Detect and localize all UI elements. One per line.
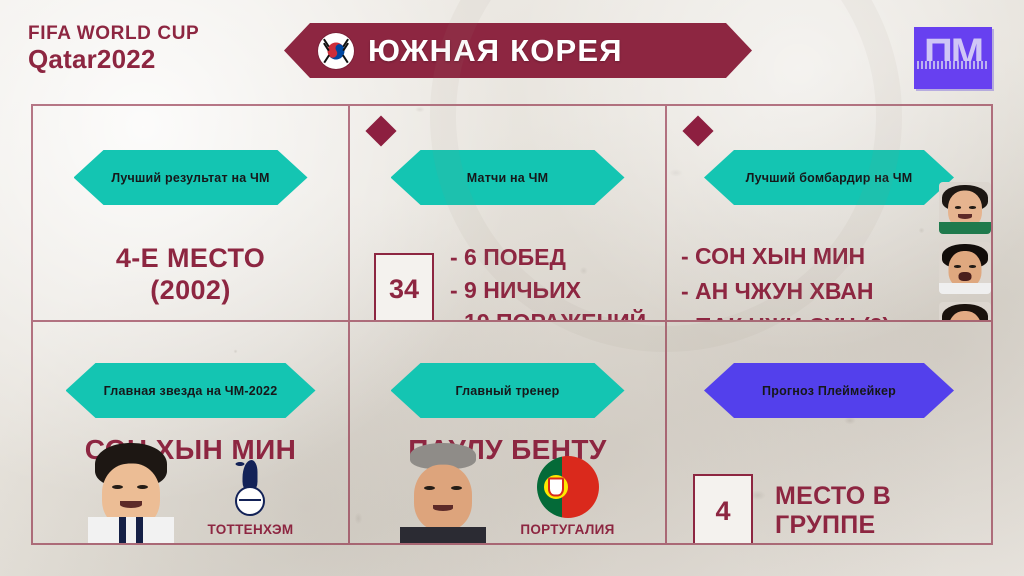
club-badge-col: ТОТТЕНХЭМ [208,460,294,543]
club-name: ТОТТЕНХЭМ [208,522,294,537]
fifa-logo-line2: Qatar2022 [28,46,258,72]
tottenham-crest-icon [225,460,275,518]
fifa-world-cup-logo: FIFA WORLD CUP Qatar2022 [28,24,258,72]
matches-breakdown-item: - 6 ПОБЕД [450,241,646,274]
matches-breakdown-item: - 19 ПОРАЖЕНИЙ [450,306,646,322]
matches-total-box: 34 [374,253,434,322]
hex-wrap: Главный тренер [350,322,665,418]
country-name: ПОРТУГАЛИЯ [520,522,614,537]
best-result-place: 4-Е МЕСТО [33,243,348,275]
logo-bar-decor [917,61,989,69]
player-photo-son [939,182,991,234]
portugal-flag-icon [537,456,599,518]
star-player-label: Главная звезда на ЧМ-2022 [66,363,316,418]
star-player-club-row: ТОТТЕНХЭМ [33,415,348,543]
country-badge-col: ПОРТУГАЛИЯ [520,456,614,543]
cell-prediction: Прогноз Плеймейкер 4 МЕСТО В ГРУППЕ [667,322,991,543]
star-player-portrait [88,439,174,543]
logo-foot-decor [917,73,989,85]
infographic-stage: FIFA WORLD CUP Qatar2022 ЮЖНАЯ КОРЕЯ ПМ … [0,0,1024,576]
top-scorer-photos [939,182,991,322]
best-result-value: 4-Е МЕСТО (2002) [33,243,348,307]
prediction-result-row: 4 МЕСТО В ГРУППЕ [667,474,991,543]
hex-wrap: Главная звезда на ЧМ-2022 [33,322,348,418]
matches-label: Матчи на ЧМ [391,150,625,205]
cell-matches: Матчи на ЧМ 34 - 6 ПОБЕД - 9 НИЧЬИХ - 19… [350,106,667,322]
matches-breakdown-item: - 9 НИЧЬИХ [450,274,646,307]
head-coach-portrait [400,439,486,543]
matches-stats-row: 34 - 6 ПОБЕД - 9 НИЧЬИХ - 19 ПОРАЖЕНИЙ [350,241,665,322]
stats-grid: Лучший результат на ЧМ 4-Е МЕСТО (2002) … [31,104,993,545]
prediction-label: Прогноз Плеймейкер [704,363,954,418]
cell-best-result: Лучший результат на ЧМ 4-Е МЕСТО (2002) [33,106,350,322]
prediction-place-label: МЕСТО В ГРУППЕ [775,482,991,540]
top-scorer-label: Лучший бомбардир на ЧМ [704,150,954,205]
hex-wrap: Прогноз Плеймейкер [667,322,991,418]
matches-breakdown-list: - 6 ПОБЕД - 9 НИЧЬИХ - 19 ПОРАЖЕНИЙ [450,241,646,322]
cell-star-player: Главная звезда на ЧМ-2022 СОН ХЫН МИН [33,322,350,543]
hex-wrap: Лучший результат на ЧМ [33,106,348,205]
hex-wrap: Матчи на ЧМ [350,106,665,205]
best-result-year: (2002) [33,275,348,307]
head-coach-country-row: ПОРТУГАЛИЯ [350,415,665,543]
prediction-place-box: 4 [693,474,753,543]
fifa-logo-line1: FIFA WORLD CUP [28,24,258,43]
player-photo-park [939,302,991,322]
cell-head-coach: Главный тренер ПАУЛУ БЕНТУ ПОРТУГАЛИЯ [350,322,667,543]
head-coach-label: Главный тренер [391,363,625,418]
page-title: ЮЖНАЯ КОРЕЯ [368,33,623,69]
south-korea-flag-icon [318,33,354,69]
playmaker-logo: ПМ [914,27,992,89]
best-result-label: Лучший результат на ЧМ [74,150,308,205]
player-photo-ahn [939,242,991,294]
cell-top-scorer: Лучший бомбардир на ЧМ - СОН ХЫН МИН - А… [667,106,991,322]
title-banner: ЮЖНАЯ КОРЕЯ [284,23,752,78]
